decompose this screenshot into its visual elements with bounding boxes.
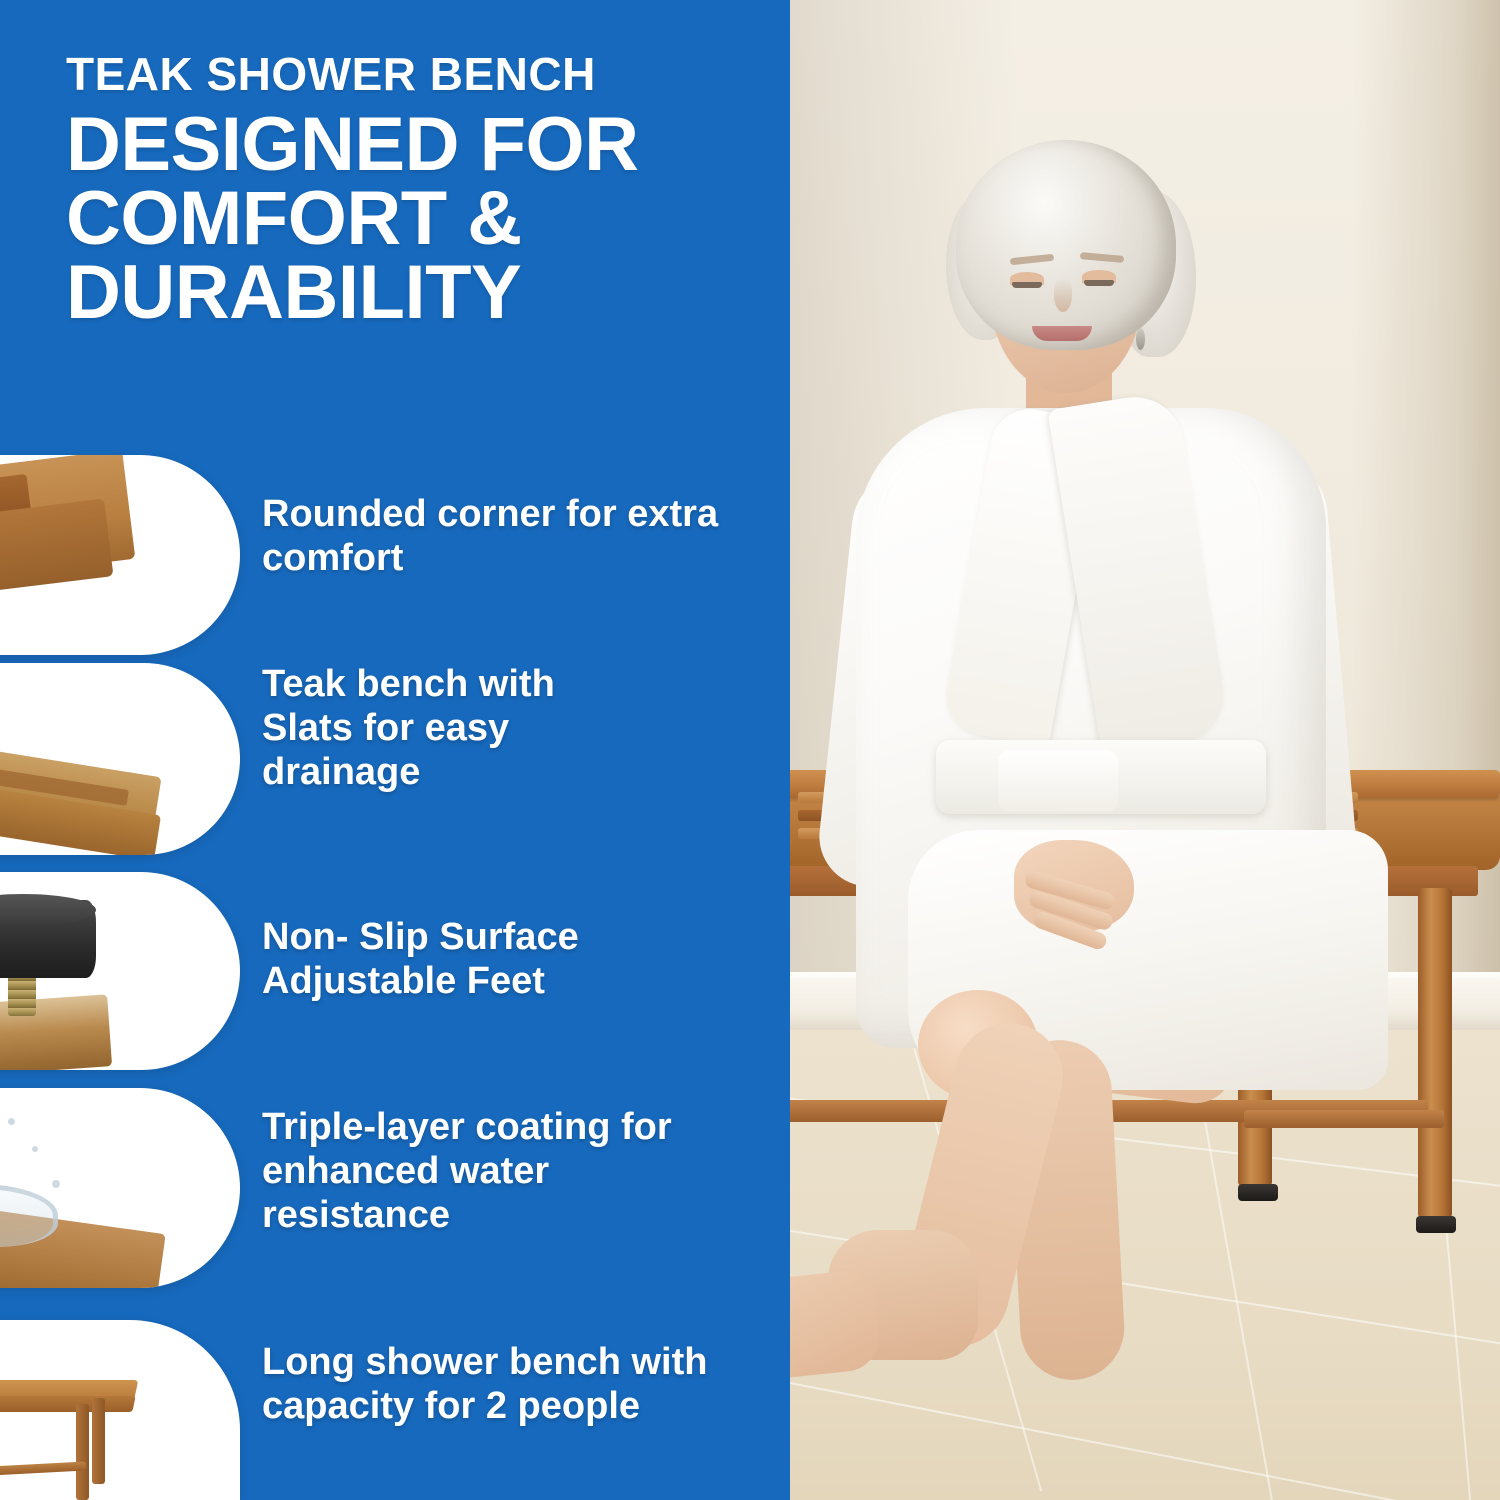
- adjustable-rubber-foot-thumbnail: [0, 872, 240, 1070]
- teak-slat-surface-thumbnail: [0, 663, 240, 855]
- product-infographic: TEAK SHOWER BENCH DESIGNED FOR COMFORT &…: [0, 0, 1500, 1500]
- feature-text-two-person-capacity: Long shower bench with capacity for 2 pe…: [262, 1340, 762, 1428]
- product-kicker: TEAK SHOWER BENCH: [66, 50, 756, 98]
- headline-line-1: DESIGNED FOR: [66, 108, 756, 182]
- headline-line-2: COMFORT &: [66, 182, 756, 256]
- seated-woman: [818, 140, 1378, 1390]
- bench-leg-right: [1418, 888, 1452, 1218]
- mouth: [1032, 326, 1092, 341]
- robe-belt-knot: [998, 750, 1118, 812]
- full-teak-bench-thumbnail: [0, 1320, 240, 1500]
- lifestyle-photo-panel: [788, 0, 1500, 1500]
- bench-foot-right: [1416, 1216, 1456, 1233]
- water-splash-on-teak-thumbnail: [0, 1088, 240, 1288]
- headline-line-3: DURABILITY: [66, 256, 756, 330]
- nose: [1054, 278, 1072, 312]
- feature-text-rounded-corner: Rounded corner for extra comfort: [262, 492, 732, 580]
- headline-block: TEAK SHOWER BENCH DESIGNED FOR COMFORT &…: [66, 50, 756, 329]
- earring: [1136, 328, 1145, 350]
- bench-corner-closeup-thumbnail: [0, 455, 240, 655]
- foot-front: [788, 1268, 883, 1391]
- feature-text-teak-slats: Teak bench with Slats for easy drainage: [262, 662, 592, 794]
- hair: [956, 140, 1176, 350]
- feature-text-non-slip-feet: Non- Slip Surface Adjustable Feet: [262, 915, 732, 1003]
- blue-info-panel: TEAK SHOWER BENCH DESIGNED FOR COMFORT &…: [0, 0, 790, 1500]
- feature-text-triple-layer-coating: Triple-layer coating for enhanced water …: [262, 1105, 732, 1237]
